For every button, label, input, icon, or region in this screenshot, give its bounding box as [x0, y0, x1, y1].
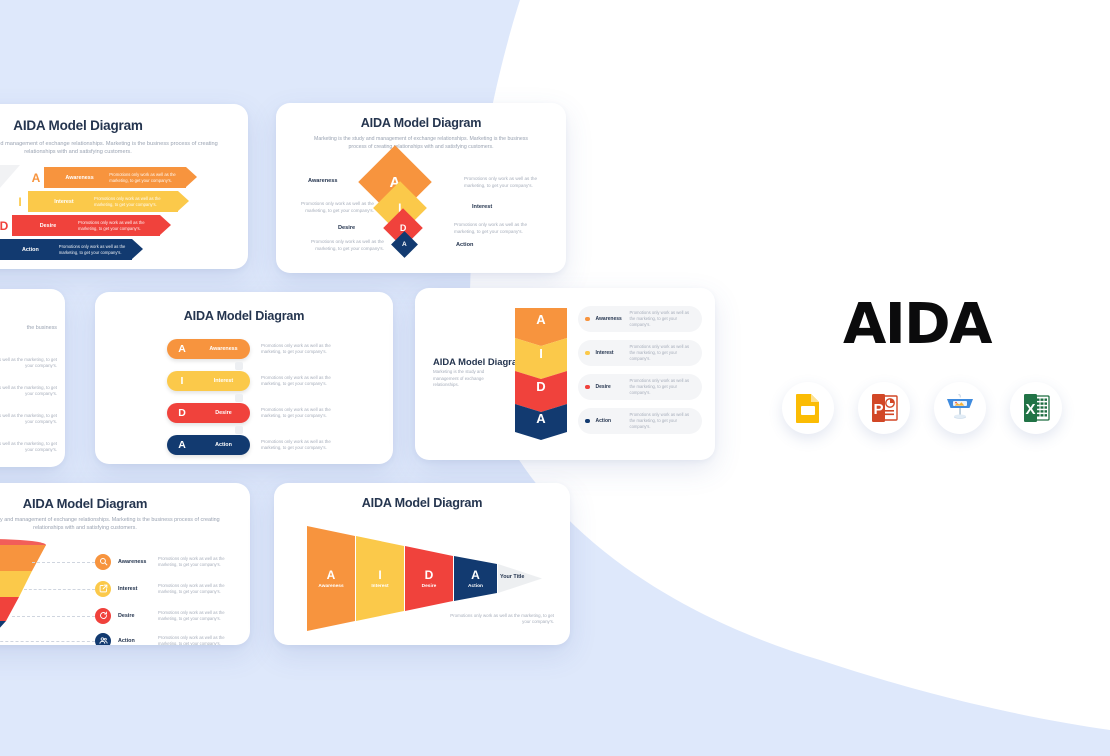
step-desc: Promotions only work as well as the mark…: [261, 407, 333, 420]
arrow-bar: Action Promotions only work as well as t…: [0, 239, 132, 260]
step-letter: I: [167, 375, 197, 387]
step-name: Desire: [422, 584, 437, 589]
slide-card-inverted-funnel[interactable]: AIDA Model Diagram Marketing is the stud…: [0, 483, 250, 645]
arrow-row-action[interactable]: A Action Promotions only work as well as…: [0, 239, 132, 260]
arrow-chevron-group: A Awareness Promotions only work as well…: [0, 165, 248, 261]
step-name: Awareness: [308, 178, 337, 184]
step-desc: Promotions only work as well as the mark…: [464, 176, 542, 189]
desc-line: Promotions only work as well as the mark…: [0, 357, 57, 370]
legend-label: Desire: [596, 384, 630, 390]
step-name: Desire: [22, 223, 74, 229]
powerpoint-icon[interactable]: P: [858, 382, 910, 434]
pill-row-action[interactable]: A Action Promotions only work as well as…: [167, 435, 333, 455]
page-title: AIDA Model Diagram: [95, 309, 393, 323]
legend-desc: Promotions only work as well as the mark…: [630, 412, 696, 430]
step-desc: Promotions only work as well as the mark…: [158, 610, 232, 622]
arrow-bar: Interest Promotions only work as well as…: [28, 191, 178, 212]
diamond-group: A Awareness Promotions only work as well…: [276, 156, 566, 261]
step-name: Desire: [118, 613, 158, 619]
step-desc: Promotions only work as well as the mark…: [109, 172, 186, 183]
slide-card-clipped-left[interactable]: the business Promotions only work as wel…: [0, 289, 65, 467]
funnel-row-awareness[interactable]: Awareness Promotions only work as well a…: [95, 554, 232, 570]
segment-label-desire: D Desire: [405, 568, 453, 589]
step-desc: Promotions only work as well as the mark…: [158, 635, 232, 645]
google-slides-icon[interactable]: [782, 382, 834, 434]
step-desc: Promotions only work as well as the mark…: [454, 222, 532, 235]
arrow-bar: Awareness Promotions only work as well a…: [44, 167, 186, 188]
funnel-row-desire[interactable]: Desire Promotions only work as well as t…: [95, 608, 232, 624]
step-name: Action: [468, 584, 483, 589]
step-desc: Promotions only work as well as the mark…: [298, 201, 374, 214]
page-title: AIDA Model Diagram: [433, 356, 525, 367]
legend-desc: Promotions only work as well as the mark…: [630, 378, 696, 396]
step-letter: A: [402, 241, 407, 248]
step-name: Awareness: [318, 584, 343, 589]
footer-note: Promotions only work as well as the mark…: [449, 613, 554, 626]
svg-text:P: P: [873, 401, 883, 418]
leader-line: [24, 589, 95, 590]
desc-line: Promotions only work as well as the mark…: [0, 413, 57, 426]
step-name: Interest: [38, 199, 90, 205]
step-letter: I: [515, 346, 567, 361]
step-desc: Promotions only work as well as the mark…: [158, 583, 232, 595]
page-title: AIDA Model Diagram: [0, 118, 248, 133]
step-desc: Promotions only work as well as the mark…: [158, 556, 232, 568]
pill-interest[interactable]: I Interest: [167, 371, 250, 391]
refresh-cycle-icon: [95, 608, 111, 624]
funnel-row-action[interactable]: Action Promotions only work as well as t…: [95, 633, 232, 645]
legend-dot: [585, 419, 590, 424]
leader-line: [32, 562, 95, 563]
horizontal-funnel-group: A Awareness I Interest D Desire A Action…: [274, 516, 570, 634]
step-desc: Promotions only work as well as the mark…: [59, 244, 132, 255]
connector-node: [235, 394, 243, 402]
legend-dot: [585, 317, 590, 322]
step-desc: Promotions only work as well as the mark…: [261, 439, 333, 452]
keynote-glyph: [945, 394, 975, 422]
step-name: Interest: [118, 586, 158, 592]
segment-label-action: A Action: [454, 568, 497, 589]
step-letter: A: [471, 568, 480, 582]
arrow-row-desire[interactable]: D Desire Promotions only work as well as…: [0, 215, 160, 236]
slide-card-diamonds[interactable]: AIDA Model Diagram Marketing is the stud…: [276, 103, 566, 273]
step-letter: D: [425, 568, 434, 582]
step-name: Desire: [197, 410, 250, 416]
pill-action[interactable]: A Action: [167, 435, 250, 455]
step-letter: D: [515, 379, 567, 394]
page-title: AIDA Model Diagram: [276, 116, 566, 130]
legend-item-desire[interactable]: Desire Promotions only work as well as t…: [578, 374, 702, 400]
step-name: Action: [456, 242, 473, 248]
step-name: Action: [6, 247, 55, 253]
step-name: Awareness: [118, 559, 158, 565]
slide-card-chevron-stack[interactable]: AIDA Model Diagram Marketing is the stud…: [415, 288, 715, 460]
step-letter: A: [167, 439, 197, 451]
legend-dot: [585, 351, 590, 356]
step-desc: Promotions only work as well as the mark…: [261, 343, 333, 356]
step-letter: D: [167, 407, 197, 419]
legend-item-interest[interactable]: Interest Promotions only work as well as…: [578, 340, 702, 366]
pill-awareness[interactable]: A Awareness: [167, 339, 250, 359]
excel-glyph: X: [1023, 394, 1050, 422]
step-letter: I: [378, 568, 381, 582]
desc-line: Promotions only work as well as the mark…: [0, 441, 57, 454]
leader-line: [12, 616, 95, 617]
legend-label: Awareness: [596, 316, 630, 322]
slide-card-horizontal-funnel[interactable]: AIDA Model Diagram A Awareness I Interes…: [274, 483, 570, 645]
funnel-group: A I D A Awareness Promotions only work a…: [0, 537, 250, 642]
pill-desire[interactable]: D Desire: [167, 403, 250, 423]
connector-node: [235, 426, 243, 434]
step-name: Awareness: [54, 175, 105, 181]
step-name: Interest: [371, 584, 388, 589]
legend-label: Action: [596, 418, 630, 424]
legend-list: Awareness Promotions only work as well a…: [578, 306, 702, 442]
slide-subtitle: Marketing is the study and management of…: [0, 517, 250, 533]
funnel-interest: [0, 571, 32, 597]
slide-subtitle: Marketing is the study and management of…: [276, 136, 566, 151]
page-title: AIDA Model Diagram: [0, 496, 250, 511]
step-desc: Promotions only work as well as the mark…: [261, 375, 333, 388]
step-name: Interest: [197, 378, 250, 384]
step-letter: A: [515, 411, 567, 426]
step-letter: A: [28, 171, 44, 185]
step-name: Awareness: [197, 346, 250, 352]
svg-text:X: X: [1025, 401, 1035, 418]
funnel-action: [0, 621, 6, 641]
step-letter: A: [327, 568, 336, 582]
step-letter: A: [167, 343, 197, 355]
page-title: AIDA Model Diagram: [274, 496, 570, 510]
step-desc: Promotions only work as well as the mark…: [94, 196, 172, 207]
segment-label-awareness: A Awareness: [307, 568, 355, 589]
arrow-row-interest[interactable]: I Interest Promotions only work as well …: [12, 191, 178, 212]
segment-label-interest: I Interest: [356, 568, 404, 589]
aida-wordmark: AIDA: [843, 292, 991, 357]
step-letter: I: [12, 195, 28, 209]
people-icon: [95, 633, 111, 645]
legend-item-action[interactable]: Action Promotions only work as well as t…: [578, 408, 702, 434]
step-letter: D: [0, 219, 12, 233]
search-icon: [95, 554, 111, 570]
powerpoint-glyph: P: [871, 394, 898, 422]
step-name: Desire: [338, 225, 355, 231]
arrow-row-awareness[interactable]: A Awareness Promotions only work as well…: [28, 167, 186, 188]
step-name: Action: [118, 638, 158, 644]
poster-stage: AIDA Model Diagram Marketing is the stud…: [0, 0, 1110, 756]
legend-desc: Promotions only work as well as the mark…: [630, 310, 696, 328]
pill-row-desire[interactable]: D Desire Promotions only work as well as…: [167, 403, 333, 423]
connector-node: [235, 362, 243, 370]
funnel-awareness: [0, 545, 46, 571]
pill-row-interest[interactable]: I Interest Promotions only work as well …: [167, 371, 333, 391]
legend-item-awareness[interactable]: Awareness Promotions only work as well a…: [578, 306, 702, 332]
legend-desc: Promotions only work as well as the mark…: [630, 344, 696, 362]
legend-dot: [585, 385, 590, 390]
slide-subtitle-fragment: the business: [0, 325, 65, 333]
slide-card-pills[interactable]: AIDA Model Diagram A Awareness Promotion…: [95, 292, 393, 464]
step-name: Action: [197, 442, 250, 448]
slide-card-arrows[interactable]: AIDA Model Diagram Marketing is the stud…: [0, 104, 248, 269]
inverted-funnel: A I D A: [0, 539, 48, 643]
desc-line: Promotions only work as well as the mark…: [0, 385, 57, 398]
leader-line: [0, 641, 95, 642]
edit-square-icon: [95, 581, 111, 597]
funnel-row-interest[interactable]: Interest Promotions only work as well as…: [95, 581, 232, 597]
step-name: Interest: [472, 204, 492, 210]
step-letter: A: [515, 312, 567, 327]
chevron-letters: A I D A: [515, 308, 567, 440]
step-desc: Promotions only work as well as the mark…: [78, 220, 156, 231]
keynote-icon[interactable]: [934, 382, 986, 434]
tail-label: Your Title: [500, 574, 524, 580]
legend-label: Interest: [596, 350, 630, 356]
funnel-desire: [0, 597, 19, 621]
pill-row-awareness[interactable]: A Awareness Promotions only work as well…: [167, 339, 333, 359]
excel-icon[interactable]: X: [1010, 382, 1062, 434]
slide-subtitle: Marketing is the study and management of…: [433, 369, 503, 389]
google-slides-glyph: [795, 393, 821, 423]
arrow-bar: Desire Promotions only work as well as t…: [12, 215, 160, 236]
slide-subtitle: Marketing is the study and management of…: [0, 140, 248, 156]
step-desc: Promotions only work as well as the mark…: [308, 239, 384, 252]
